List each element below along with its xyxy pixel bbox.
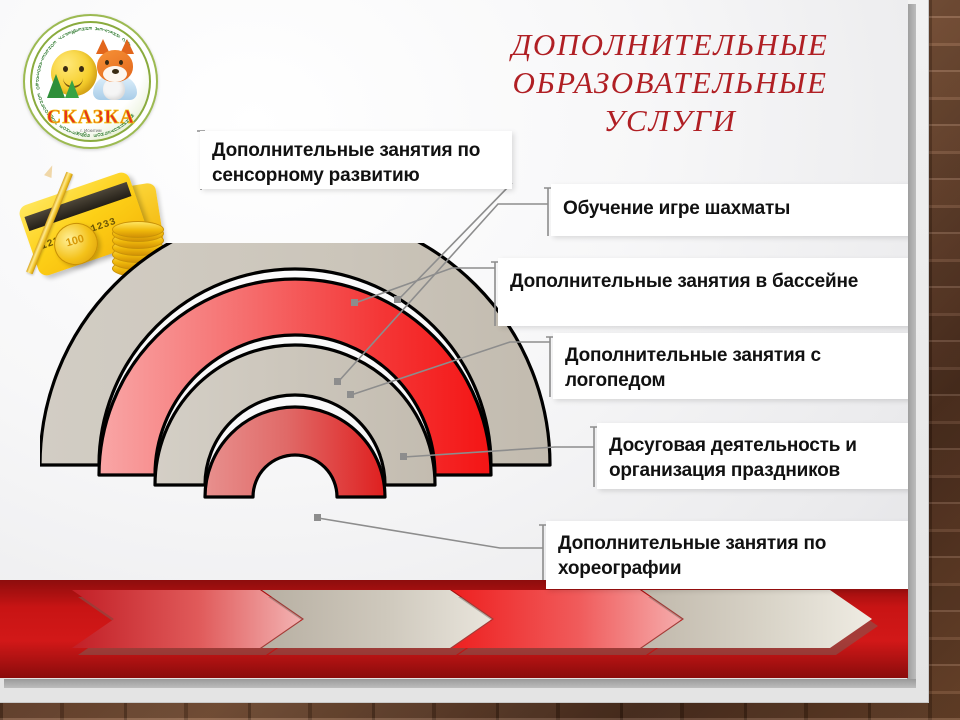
slide-canvas: ДОПОЛНИТЕЛЬНЫЕ ОБРАЗОВАТЕЛЬНЫЕ УСЛУГИ МУ… [0, 0, 908, 678]
slide-stage: ДОПОЛНИТЕЛЬНЫЕ ОБРАЗОВАТЕЛЬНЫЕ УСЛУГИ МУ… [0, 0, 960, 720]
callout-leisure-and-holidays[interactable]: Досуговая деятельность и организация пра… [597, 423, 908, 489]
frame-bottom-bevel [4, 679, 916, 688]
connector-choreography-line [318, 518, 543, 548]
callout-chess[interactable]: Обучение игре шахматы [551, 184, 908, 236]
connector-markers [314, 296, 407, 521]
callout-swimming-pool[interactable]: Дополнительные занятия в бассейне [498, 258, 908, 326]
frame-right-bevel [907, 4, 916, 688]
connector-leisure-line [404, 447, 594, 457]
connector-speech-line [351, 342, 550, 395]
callout-speech-therapist[interactable]: Дополнительные занятия с логопедом [553, 333, 908, 399]
callout-sensory-development[interactable]: Дополнительные занятия по сенсорному раз… [200, 131, 512, 189]
callout-choreography[interactable]: Дополнительные занятия по хореографии [546, 521, 908, 589]
slide-frame: ДОПОЛНИТЕЛЬНЫЕ ОБРАЗОВАТЕЛЬНЫЕ УСЛУГИ МУ… [0, 0, 928, 702]
